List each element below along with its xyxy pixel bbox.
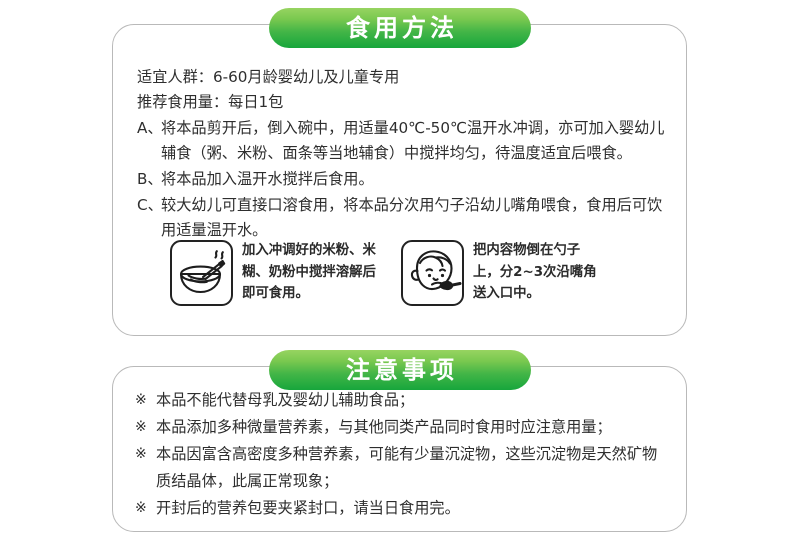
notice-bullet-icon: ※ — [135, 387, 156, 414]
step-c-text: 较大幼儿可直接口溶食用，将本品分次用勺子沿幼儿嘴角喂食，食用后可饮用适量温开水。 — [161, 193, 666, 243]
dosage-value: 每日1包 — [228, 93, 283, 111]
bowl-with-spoon-icon — [170, 240, 233, 306]
notice-card: ※ 本品不能代替母乳及婴幼儿辅助食品； ※ 本品添加多种微量营养素，与其他同类产… — [112, 366, 687, 532]
dosage-line: 推荐食用量：每日1包 — [137, 90, 666, 115]
notice-item: ※ 本品不能代替母乳及婴幼儿辅助食品； — [135, 387, 670, 414]
usage-step-c: C、 较大幼儿可直接口溶食用，将本品分次用勺子沿幼儿嘴角喂食，食用后可饮用适量温… — [137, 193, 666, 243]
notice-item-text: 开封后的营养包要夹紧封口，请当日食用完。 — [156, 495, 670, 522]
notice-list: ※ 本品不能代替母乳及婴幼儿辅助食品； ※ 本品添加多种微量营养素，与其他同类产… — [135, 387, 670, 522]
baby-spoon-feeding-icon — [401, 240, 464, 306]
step-a-marker: A、 — [137, 116, 161, 141]
notice-item: ※ 开封后的营养包要夹紧封口，请当日食用完。 — [135, 495, 670, 522]
notice-section-banner: 注意事项 — [269, 350, 531, 390]
audience-label: 适宜人群： — [137, 68, 213, 86]
usage-step-b: B、 将本品加入温开水搅拌后食用。 — [137, 167, 666, 192]
illustration-row: 加入冲调好的米粉、米糊、奶粉中搅拌溶解后即可食用。 — [170, 240, 606, 306]
illustration-baby-caption: 把内容物倒在勺子上，分2~3次沿嘴角送入口中。 — [473, 240, 606, 305]
notice-item-text: 本品添加多种微量营养素，与其他同类产品同时食用时应注意用量； — [156, 414, 670, 441]
notice-banner-title: 注意事项 — [342, 358, 458, 382]
notice-item: ※ 本品添加多种微量营养素，与其他同类产品同时食用时应注意用量； — [135, 414, 670, 441]
step-b-text: 将本品加入温开水搅拌后食用。 — [161, 167, 666, 192]
notice-bullet-icon: ※ — [135, 495, 156, 522]
dosage-label: 推荐食用量： — [137, 93, 228, 111]
step-b-marker: B、 — [137, 167, 161, 192]
illustration-baby: 把内容物倒在勺子上，分2~3次沿嘴角送入口中。 — [401, 240, 606, 306]
notice-bullet-icon: ※ — [135, 441, 156, 468]
step-a-text: 将本品剪开后，倒入碗中，用适量40℃-50℃温开水冲调，亦可加入婴幼儿辅食（粥、… — [161, 116, 666, 166]
audience-value: 6-60月龄婴幼儿及儿童专用 — [213, 68, 399, 86]
notice-bullet-icon: ※ — [135, 414, 156, 441]
usage-step-a: A、 将本品剪开后，倒入碗中，用适量40℃-50℃温开水冲调，亦可加入婴幼儿辅食… — [137, 116, 666, 166]
notice-item: ※ 本品因富含高密度多种营养素，可能有少量沉淀物，这些沉淀物是天然矿物质结晶体，… — [135, 441, 670, 495]
usage-card: 适宜人群：6-60月龄婴幼儿及儿童专用 推荐食用量：每日1包 A、 将本品剪开后… — [112, 24, 687, 336]
step-c-marker: C、 — [137, 193, 161, 218]
usage-banner-title: 食用方法 — [342, 16, 458, 40]
notice-item-text: 本品不能代替母乳及婴幼儿辅助食品； — [156, 387, 670, 414]
audience-line: 适宜人群：6-60月龄婴幼儿及儿童专用 — [137, 65, 666, 90]
notice-item-text: 本品因富含高密度多种营养素，可能有少量沉淀物，这些沉淀物是天然矿物质结晶体，此属… — [156, 441, 670, 495]
illustration-bowl: 加入冲调好的米粉、米糊、奶粉中搅拌溶解后即可食用。 — [170, 240, 377, 306]
illustration-bowl-caption: 加入冲调好的米粉、米糊、奶粉中搅拌溶解后即可食用。 — [242, 240, 377, 305]
usage-section-banner: 食用方法 — [269, 8, 531, 48]
usage-body: 适宜人群：6-60月龄婴幼儿及儿童专用 推荐食用量：每日1包 A、 将本品剪开后… — [137, 65, 666, 243]
product-instructions-page: 适宜人群：6-60月龄婴幼儿及儿童专用 推荐食用量：每日1包 A、 将本品剪开后… — [0, 0, 800, 558]
